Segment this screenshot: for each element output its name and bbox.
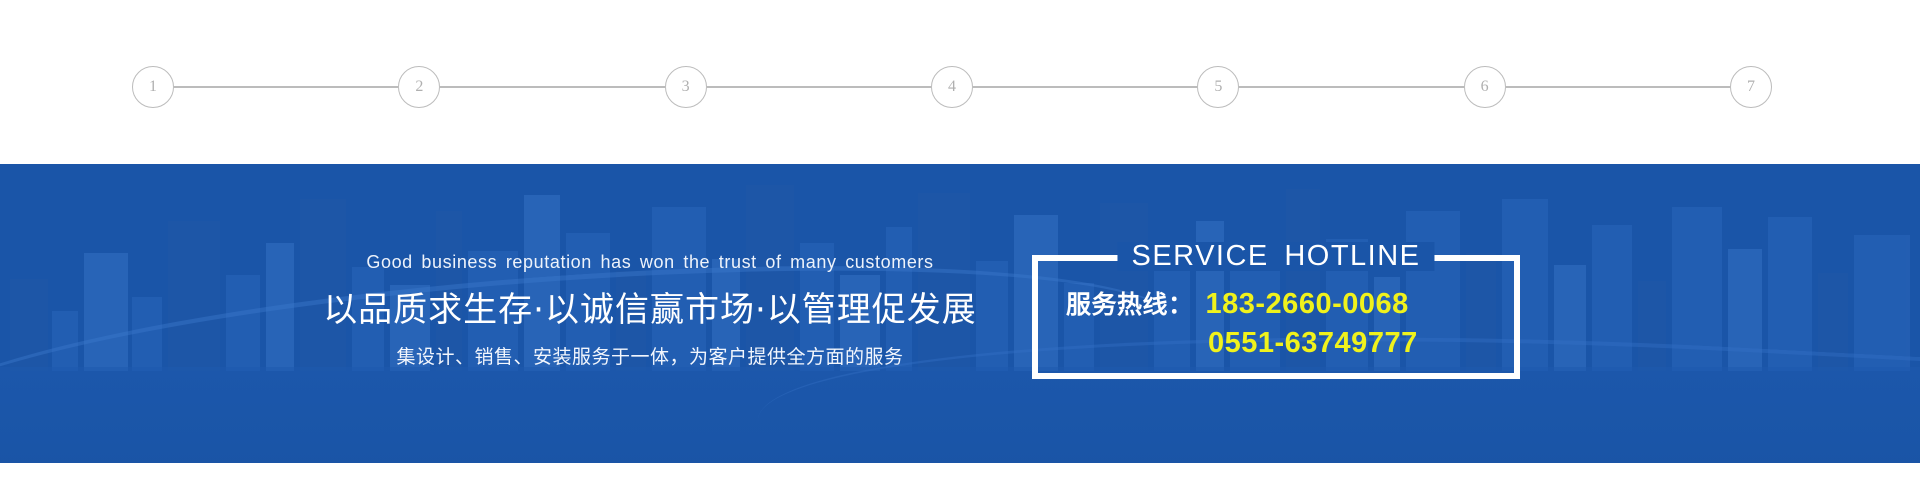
step-node-7[interactable]: 7 xyxy=(1730,66,1772,108)
hotline-body: 服务热线： 183-2660-0068 0551-63749777 xyxy=(1038,285,1514,360)
service-hotline-box: SERVICE HOTLINE 服务热线： 183-2660-0068 0551… xyxy=(1032,255,1520,379)
step-number-label: 7 xyxy=(1747,79,1755,95)
slogan-headline: 以品质求生存·以诚信赢市场·以管理促发展 xyxy=(300,290,1000,331)
step-progress-bar: 1 2 3 4 5 6 7 xyxy=(0,0,1920,164)
step-connector-5-6 xyxy=(1239,86,1463,88)
step-number-label: 6 xyxy=(1481,79,1489,95)
bottom-white-strip xyxy=(0,463,1920,500)
step-progress-track: 1 2 3 4 5 6 7 xyxy=(132,66,1772,108)
step-number-label: 4 xyxy=(948,79,956,95)
hotline-number-secondary[interactable]: 0551-63749777 xyxy=(1208,327,1418,360)
promo-banner: Good business reputation has won the tru… xyxy=(0,164,1920,463)
hotline-title: SERVICE HOTLINE xyxy=(1131,240,1420,272)
hotline-number-primary[interactable]: 183-2660-0068 xyxy=(1206,288,1409,321)
step-node-2[interactable]: 2 xyxy=(398,66,440,108)
step-connector-4-5 xyxy=(973,86,1197,88)
step-connector-3-4 xyxy=(707,86,931,88)
step-node-1[interactable]: 1 xyxy=(132,66,174,108)
step-number-label: 2 xyxy=(415,79,423,95)
step-node-3[interactable]: 3 xyxy=(665,66,707,108)
slogan-english: Good business reputation has won the tru… xyxy=(300,252,1000,274)
step-number-label: 3 xyxy=(682,79,690,95)
step-number-label: 1 xyxy=(149,79,157,95)
hotline-row-secondary: 0551-63749777 xyxy=(1066,327,1496,360)
slogan-subtitle: 集设计、销售、安装服务于一体，为客户提供全方面的服务 xyxy=(300,346,1000,369)
step-node-6[interactable]: 6 xyxy=(1464,66,1506,108)
step-connector-1-2 xyxy=(174,86,398,88)
step-number-label: 5 xyxy=(1214,79,1222,95)
step-node-4[interactable]: 4 xyxy=(931,66,973,108)
step-connector-6-7 xyxy=(1506,86,1730,88)
step-connector-2-3 xyxy=(440,86,664,88)
step-node-5[interactable]: 5 xyxy=(1197,66,1239,108)
banner-page: 1 2 3 4 5 6 7 xyxy=(0,0,1920,500)
hotline-label: 服务热线： xyxy=(1066,285,1194,321)
hotline-row-primary: 服务热线： 183-2660-0068 xyxy=(1066,285,1496,321)
slogan-block: Good business reputation has won the tru… xyxy=(300,252,1000,369)
hotline-title-wrap: SERVICE HOTLINE xyxy=(1117,242,1434,271)
